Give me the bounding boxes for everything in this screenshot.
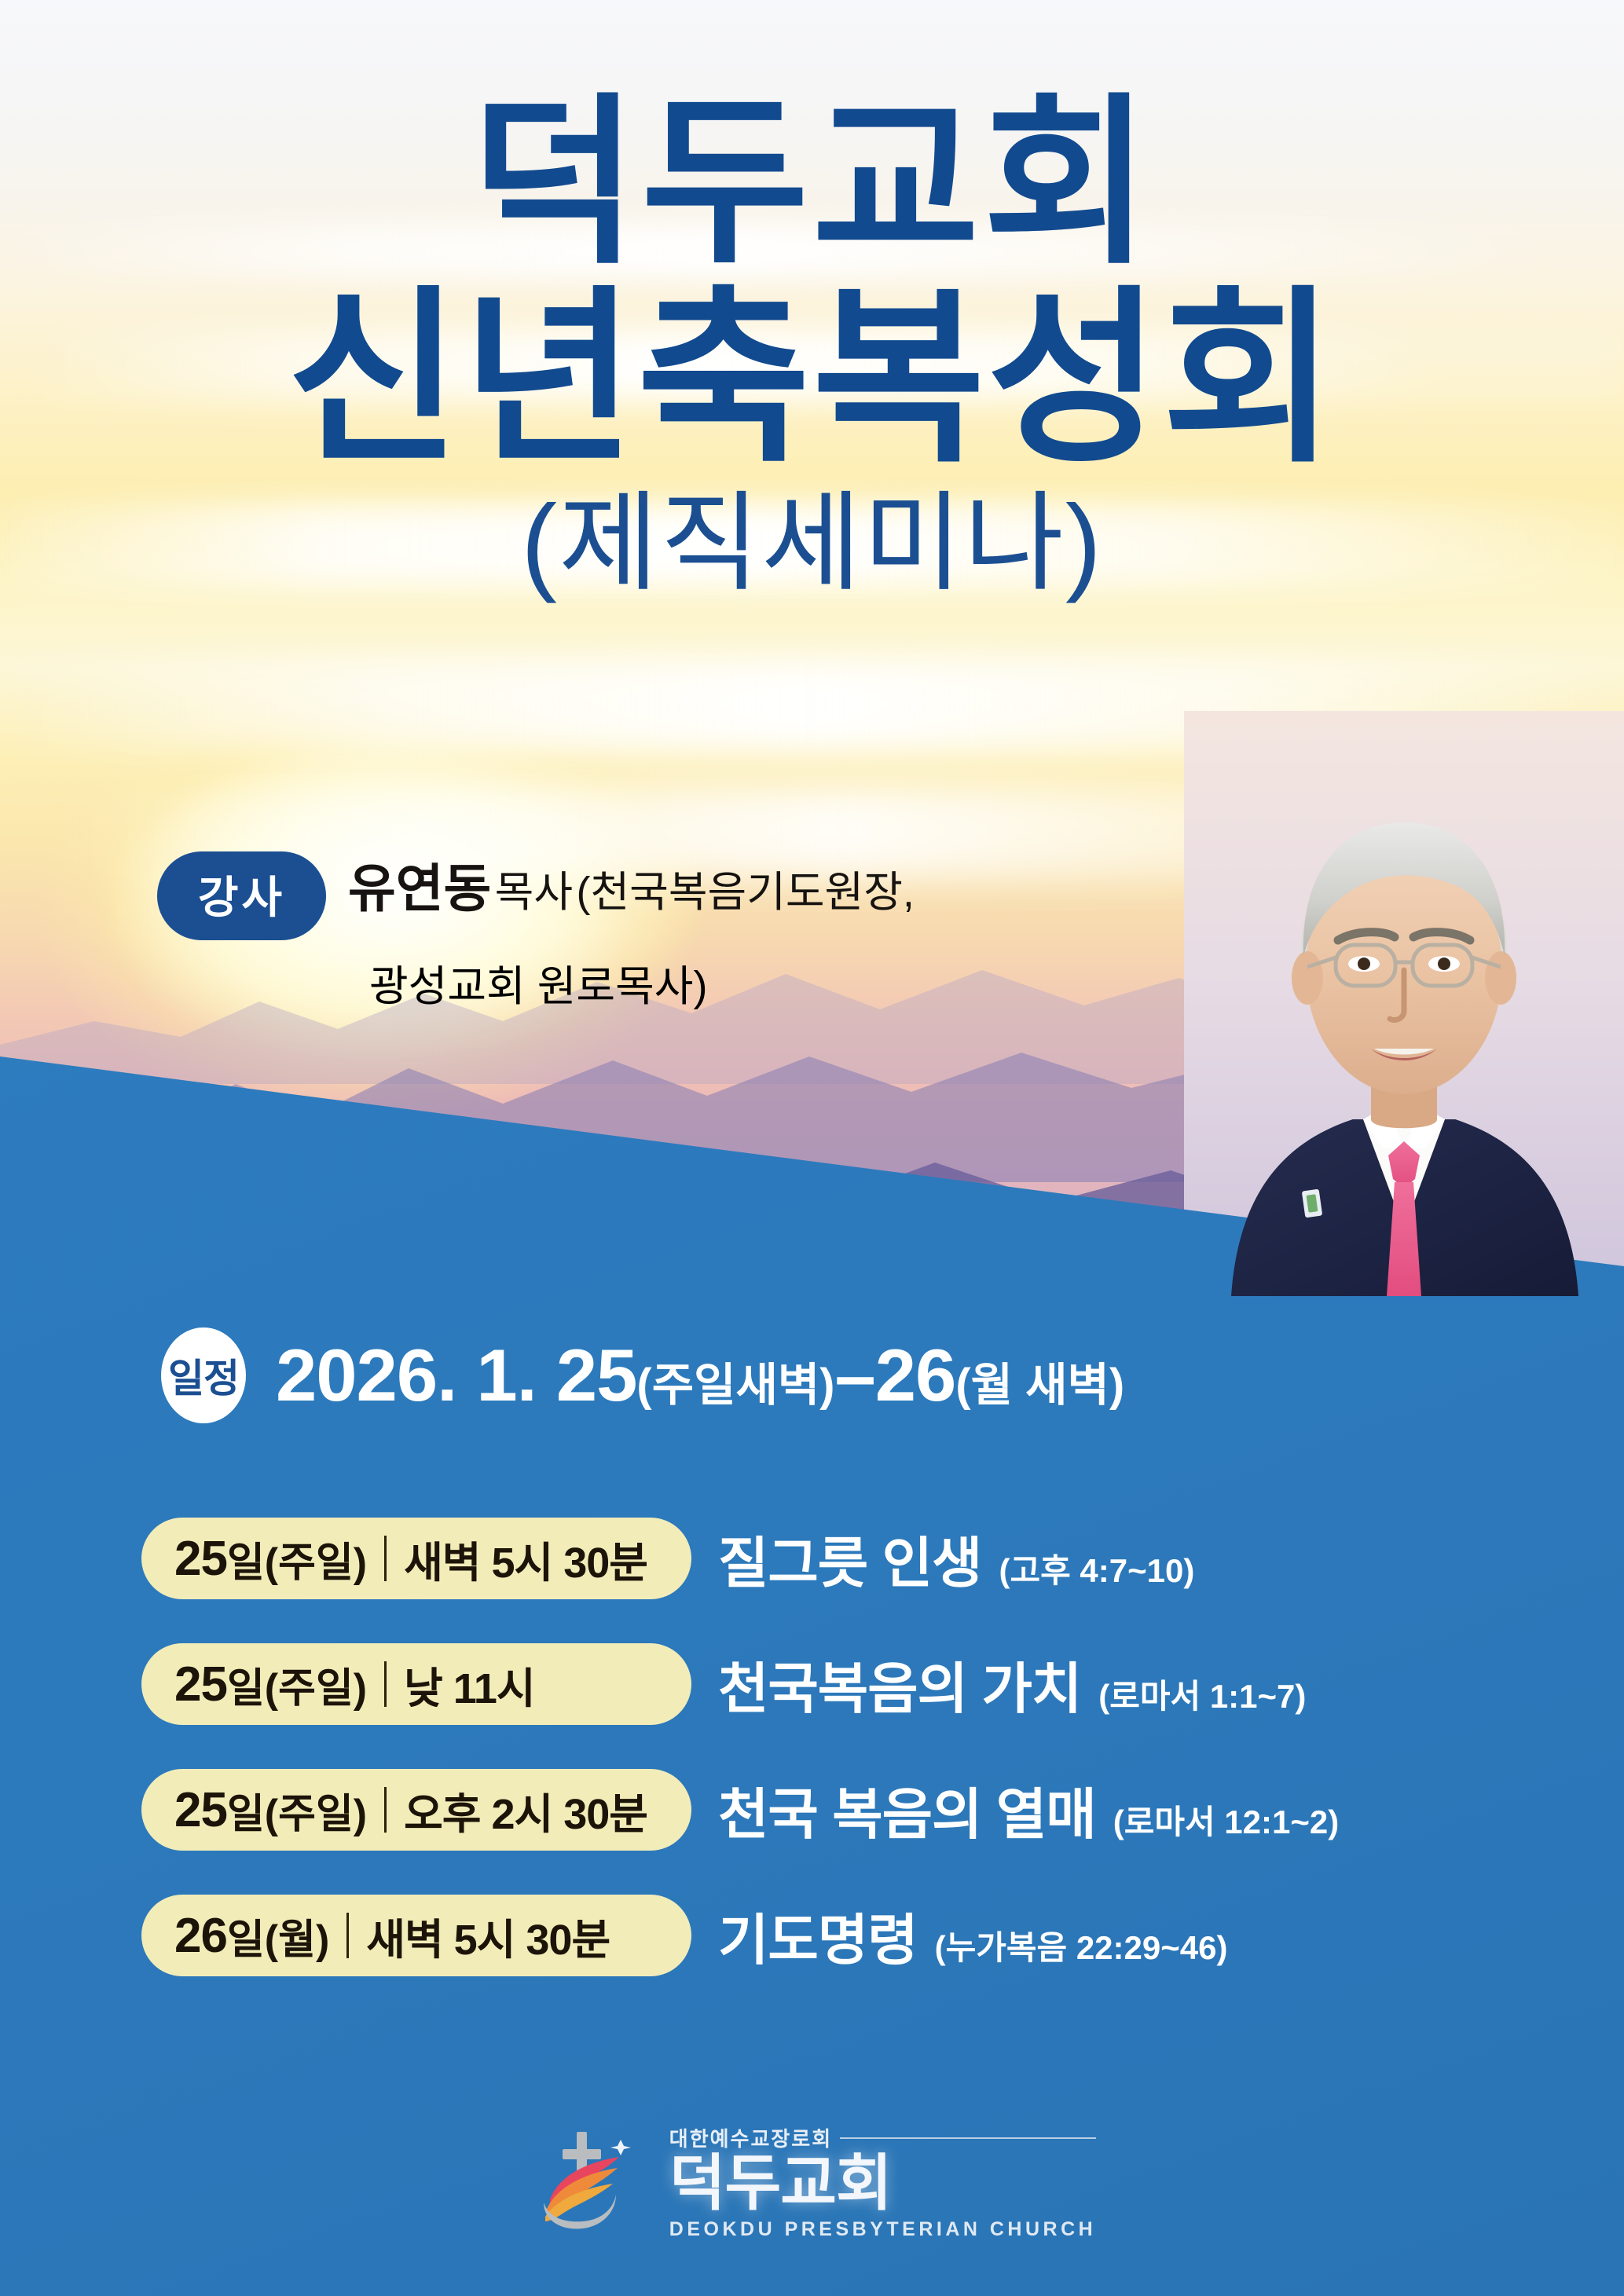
schedule-row: 25일(주일) 낮 11시 천국복음의 가치 (로마서 1:1~7) (141, 1638, 1579, 1730)
schedule-row-time: 새벽 5시 30분 (404, 1528, 647, 1590)
pill-divider (384, 1787, 387, 1833)
schedule-row-day: 26 (174, 1908, 227, 1964)
schedule-row-topic: 천국 복음의 열매 (718, 1771, 1096, 1850)
schedule-row-reference: (고후 4:7~10) (999, 1544, 1194, 1592)
schedule-date-note2: (월 새벽) (955, 1360, 1124, 1411)
schedule-row-reference: (로마서 1:1~7) (1098, 1670, 1306, 1718)
schedule-row-pill: 25일(주일) 낮 11시 (141, 1643, 691, 1725)
speaker-role: 목사 (495, 869, 573, 916)
pill-divider (384, 1536, 387, 1581)
schedule-row-day: 25 (174, 1531, 227, 1587)
schedule-row-day-suffix: 일(주일) (227, 1529, 367, 1588)
speaker-portrait-overlay (1184, 711, 1624, 1296)
schedule-row-topic-group: 천국 복음의 열매 (로마서 12:1~2) (718, 1771, 1339, 1850)
schedule-row-day-suffix: 일(월) (227, 1906, 329, 1965)
schedule-row: 25일(주일) 새벽 5시 30분 질그릇 인생 (고후 4:7~10) (141, 1512, 1579, 1605)
schedule-header: 일정 2026. 1. 25(주일새벽)–26(월 새벽) (161, 1327, 1124, 1423)
poster-subtitle: (제직세미나) (0, 489, 1624, 598)
schedule-badge: 일정 (161, 1327, 246, 1423)
title-block: 덕두교회 신년축복성회 (제직세미나) (0, 0, 1624, 598)
schedule-row-time: 새벽 5시 30분 (366, 1905, 610, 1967)
schedule-row-reference: (로마서 12:1~2) (1113, 1796, 1340, 1844)
footer-church-name: 덕두교회 (669, 2152, 892, 2215)
schedule-row-topic: 질그릇 인생 (718, 1519, 981, 1598)
speaker-name: 유연동 (348, 859, 491, 917)
schedule-list: 25일(주일) 새벽 5시 30분 질그릇 인생 (고후 4:7~10) 25일… (141, 1512, 1579, 2015)
schedule-row: 26일(월) 새벽 5시 30분 기도명령 (누가복음 22:29~46) (141, 1889, 1579, 1982)
schedule-row-topic-group: 질그릇 인생 (고후 4:7~10) (718, 1519, 1194, 1598)
footer-logo: 대한예수교장로회 덕두교회 DEOKDU PRESBYTERIAN CHURCH (0, 2123, 1624, 2241)
pill-divider (346, 1913, 349, 1958)
schedule-row-day: 25 (174, 1782, 227, 1838)
schedule-date-note1: (주일새벽) (636, 1360, 834, 1411)
schedule-row-reference: (누가복음 22:29~46) (935, 1921, 1228, 1969)
footer-church-name-en: DEOKDU PRESBYTERIAN CHURCH (669, 2218, 1096, 2241)
speaker-block: 강사 유연동 목사 (천국복음기도원장, 광성교회 원로목사) (157, 847, 1179, 1013)
schedule-row-pill: 25일(주일) 새벽 5시 30분 (141, 1518, 691, 1599)
poster-root: 덕두교회 신년축복성회 (제직세미나) 강사 유연동 목사 (천국복음기도원장,… (0, 0, 1624, 2296)
schedule-date-main: 2026. 1. 25 (276, 1334, 636, 1416)
speaker-affiliation-line2: 광성교회 원로목사) (369, 951, 1179, 1013)
speaker-affiliation-line1: (천국복음기도원장, (577, 869, 915, 916)
poster-title-line2: 신년축복성회 (0, 287, 1624, 471)
church-logo-icon (528, 2127, 646, 2237)
schedule-row-pill: 26일(월) 새벽 5시 30분 (141, 1895, 691, 1976)
schedule-row-topic-group: 기도명령 (누가복음 22:29~46) (718, 1896, 1227, 1976)
speaker-badge: 강사 (157, 851, 326, 940)
poster-title-line1: 덕두교회 (0, 94, 1624, 273)
footer-rule (840, 2137, 1096, 2139)
schedule-row: 25일(주일) 오후 2시 30분 천국 복음의 열매 (로마서 12:1~2) (141, 1763, 1579, 1856)
pill-divider (384, 1661, 387, 1707)
schedule-row-time: 오후 2시 30분 (404, 1779, 647, 1841)
schedule-row-day: 25 (174, 1657, 227, 1712)
schedule-row-time: 낮 11시 (404, 1653, 534, 1716)
schedule-row-day-suffix: 일(주일) (227, 1781, 367, 1840)
schedule-row-topic: 기도명령 (718, 1896, 918, 1976)
schedule-row-day-suffix: 일(주일) (227, 1655, 367, 1714)
schedule-row-topic-group: 천국복음의 가치 (로마서 1:1~7) (718, 1645, 1306, 1724)
schedule-row-pill: 25일(주일) 오후 2시 30분 (141, 1769, 691, 1851)
schedule-date-main2: 26 (875, 1334, 956, 1416)
schedule-date-dash: – (835, 1334, 875, 1416)
schedule-row-topic: 천국복음의 가치 (718, 1645, 1081, 1724)
